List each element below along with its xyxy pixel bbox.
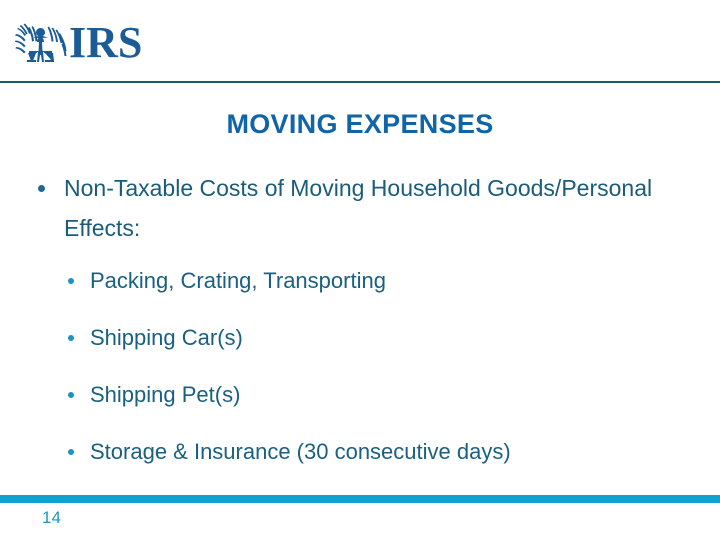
bullet-level-2-text: Storage & Insurance (30 consecutive days…	[90, 439, 511, 464]
bullet-level-1-text: Non-Taxable Costs of Moving Household Go…	[64, 175, 652, 241]
bullet-level-2-text: Shipping Car(s)	[90, 325, 243, 350]
irs-eagle-scales-emblem-icon	[14, 21, 68, 67]
bullet-dot-icon	[68, 392, 74, 398]
bullet-level-2-text: Shipping Pet(s)	[90, 382, 240, 407]
bullet-level-1: Non-Taxable Costs of Moving Household Go…	[0, 168, 720, 248]
header-divider	[0, 81, 720, 83]
sub-bullet-list: Packing, Crating, Transporting Shipping …	[0, 266, 720, 467]
bullet-level-2-text: Packing, Crating, Transporting	[90, 268, 386, 293]
slide-title: MOVING EXPENSES	[0, 108, 720, 140]
page-number: 14	[42, 508, 61, 528]
irs-logo: IRS	[14, 20, 142, 68]
bullet-level-2: Packing, Crating, Transporting	[0, 266, 720, 296]
bullet-level-2: Storage & Insurance (30 consecutive days…	[0, 437, 720, 467]
slide-header: IRS	[0, 0, 720, 82]
bullet-dot-icon	[68, 278, 74, 284]
irs-wordmark: IRS	[69, 21, 142, 68]
bullet-dot-icon	[38, 185, 45, 192]
bullet-level-2: Shipping Pet(s)	[0, 380, 720, 410]
bullet-level-2: Shipping Car(s)	[0, 323, 720, 353]
bullet-dot-icon	[68, 335, 74, 341]
slide-body: Non-Taxable Costs of Moving Household Go…	[0, 168, 720, 494]
footer-accent-bar	[0, 495, 720, 503]
bullet-dot-icon	[68, 449, 74, 455]
slide: IRS MOVING EXPENSES Non-Taxable Costs of…	[0, 0, 720, 540]
